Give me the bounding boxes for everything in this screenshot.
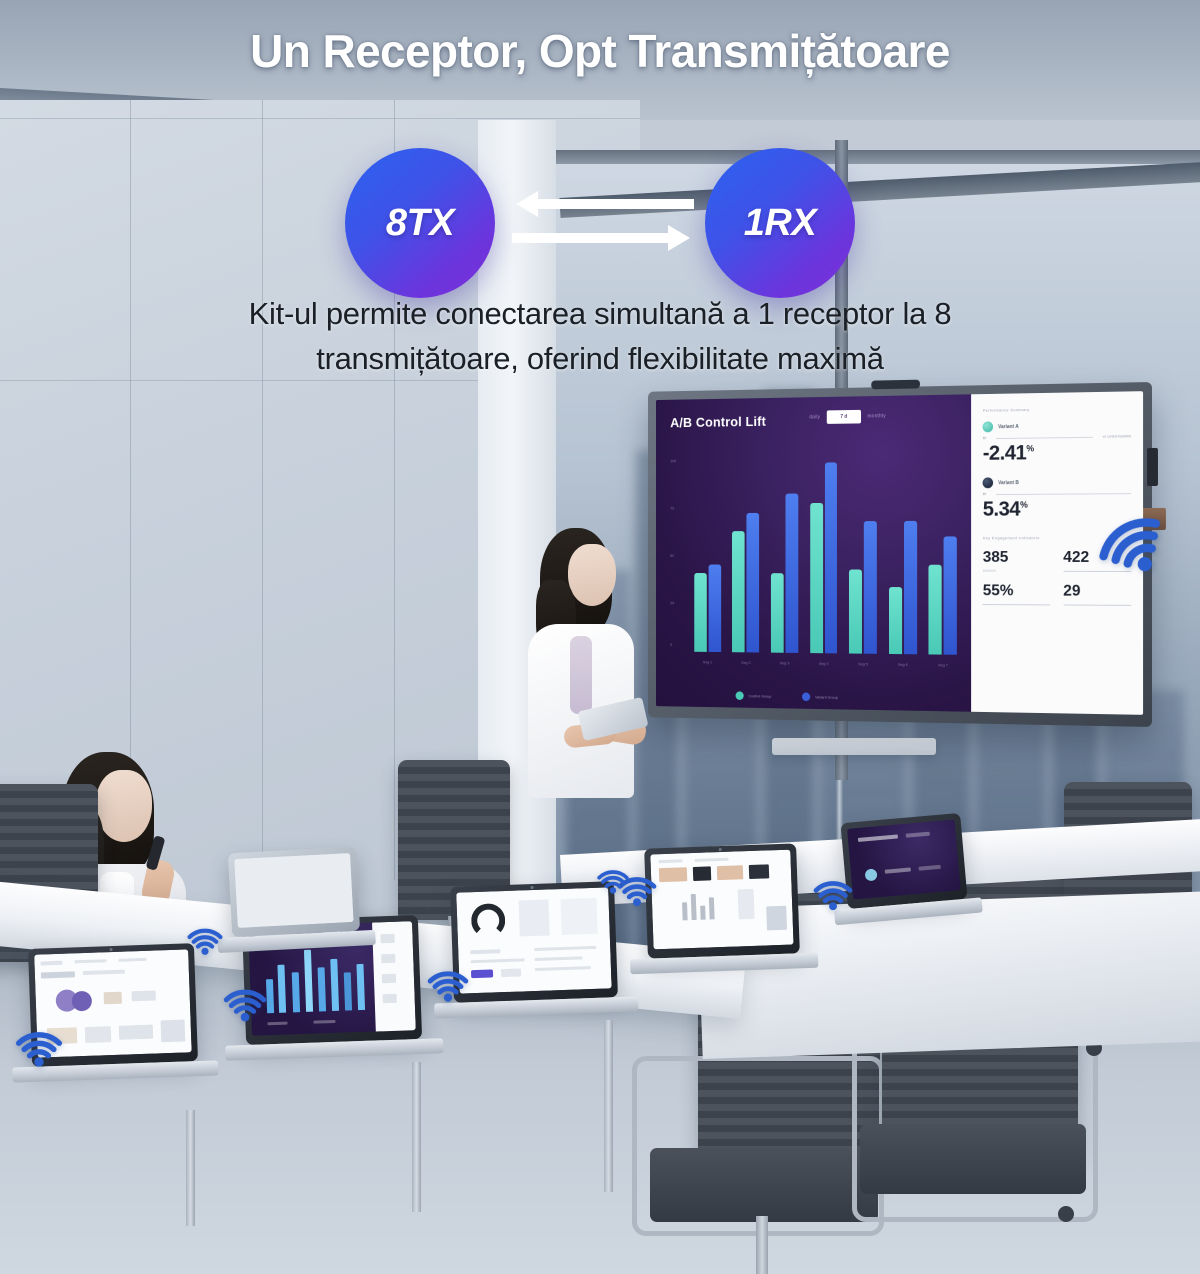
badge-transmitter-label: 8TX <box>386 202 454 245</box>
bidirectional-arrows <box>508 188 698 254</box>
badge-receiver: 1RX <box>705 148 855 298</box>
arrow-left-icon <box>516 191 694 217</box>
page-title: Un Receptor, Opt Transmițătoare <box>0 24 1200 78</box>
subtitle-line-2: transmițătoare, oferind flexibilitate ma… <box>100 337 1100 382</box>
subtitle: Kit-ul permite conectarea simultană a 1 … <box>100 292 1100 382</box>
badge-transmitter: 8TX <box>345 148 495 298</box>
arrow-right-icon <box>512 225 690 251</box>
subtitle-line-1: Kit-ul permite conectarea simultană a 1 … <box>249 296 952 331</box>
marketing-overlay: Un Receptor, Opt Transmițătoare 8TX 1RX … <box>0 0 1200 1274</box>
badge-receiver-label: 1RX <box>744 202 816 245</box>
